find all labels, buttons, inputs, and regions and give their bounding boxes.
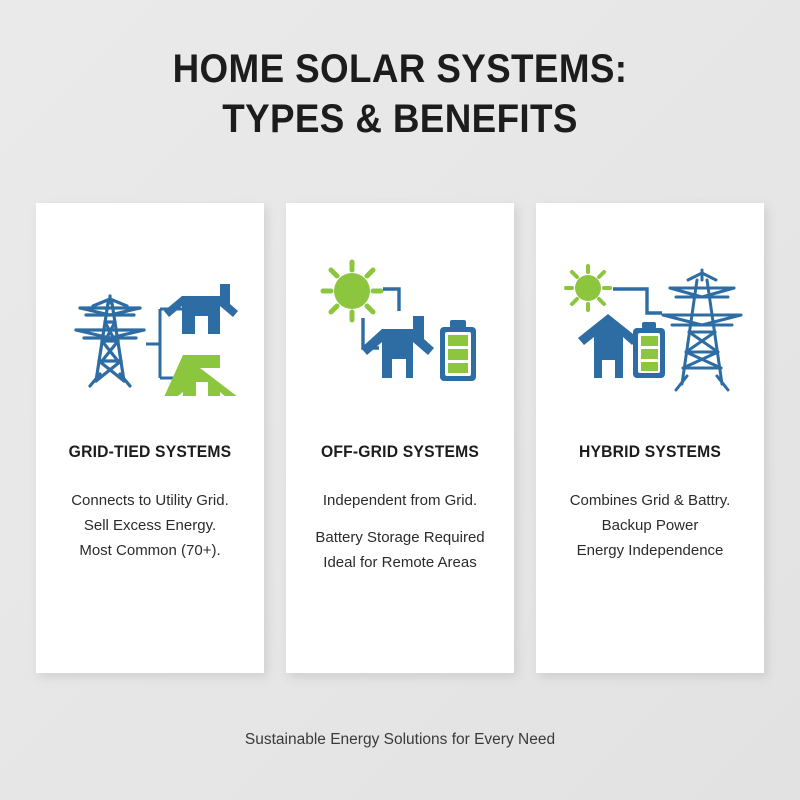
card-body-line: Energy Independence <box>536 538 764 563</box>
card-body-spacer <box>286 513 514 525</box>
card-body-line: Connects to Utility Grid. <box>36 488 264 513</box>
card-body-line: Independent from Grid. <box>286 488 514 513</box>
page-title: HOME SOLAR SYSTEMS: TYPES & BENEFITS <box>0 44 800 144</box>
card-body-line: Most Common (70+). <box>36 538 264 563</box>
card-body-line: Backup Power <box>536 513 764 538</box>
card-body-line: Battery Storage Required <box>286 525 514 550</box>
battery-icon <box>440 320 476 381</box>
card-body-hybrid: Combines Grid & Battry. Backup Power Ene… <box>536 488 764 563</box>
card-body-line: Ideal for Remote Areas <box>286 550 514 575</box>
card-hybrid: HYBRID SYSTEMS Combines Grid & Battry. B… <box>536 203 764 673</box>
cards-row: GRID-TIED SYSTEMS Connects to Utility Gr… <box>36 203 764 673</box>
page-title-line-1: HOME SOLAR SYSTEMS: <box>32 44 768 94</box>
sun-icon <box>566 266 610 310</box>
card-body-grid-tied: Connects to Utility Grid. Sell Excess En… <box>36 488 264 563</box>
card-heading-grid-tied: GRID-TIED SYSTEMS <box>42 443 259 462</box>
sun-house-battery-icon <box>286 203 514 448</box>
card-heading-off-grid: OFF-GRID SYSTEMS <box>292 443 509 462</box>
sun-icon <box>323 262 381 320</box>
card-body-line: Sell Excess Energy. <box>36 513 264 538</box>
battery-icon <box>633 322 665 378</box>
footer-tagline: Sustainable Energy Solutions for Every N… <box>0 731 800 749</box>
card-heading-hybrid: HYBRID SYSTEMS <box>542 443 759 462</box>
page-title-line-2: TYPES & BENEFITS <box>32 94 768 144</box>
card-off-grid: OFF-GRID SYSTEMS Independent from Grid. … <box>286 203 514 673</box>
tower-connected-to-houses-icon <box>36 203 264 448</box>
card-body-off-grid: Independent from Grid. Battery Storage R… <box>286 488 514 575</box>
card-body-line: Combines Grid & Battry. <box>536 488 764 513</box>
sun-house-battery-tower-icon <box>536 203 764 448</box>
card-grid-tied: GRID-TIED SYSTEMS Connects to Utility Gr… <box>36 203 264 673</box>
